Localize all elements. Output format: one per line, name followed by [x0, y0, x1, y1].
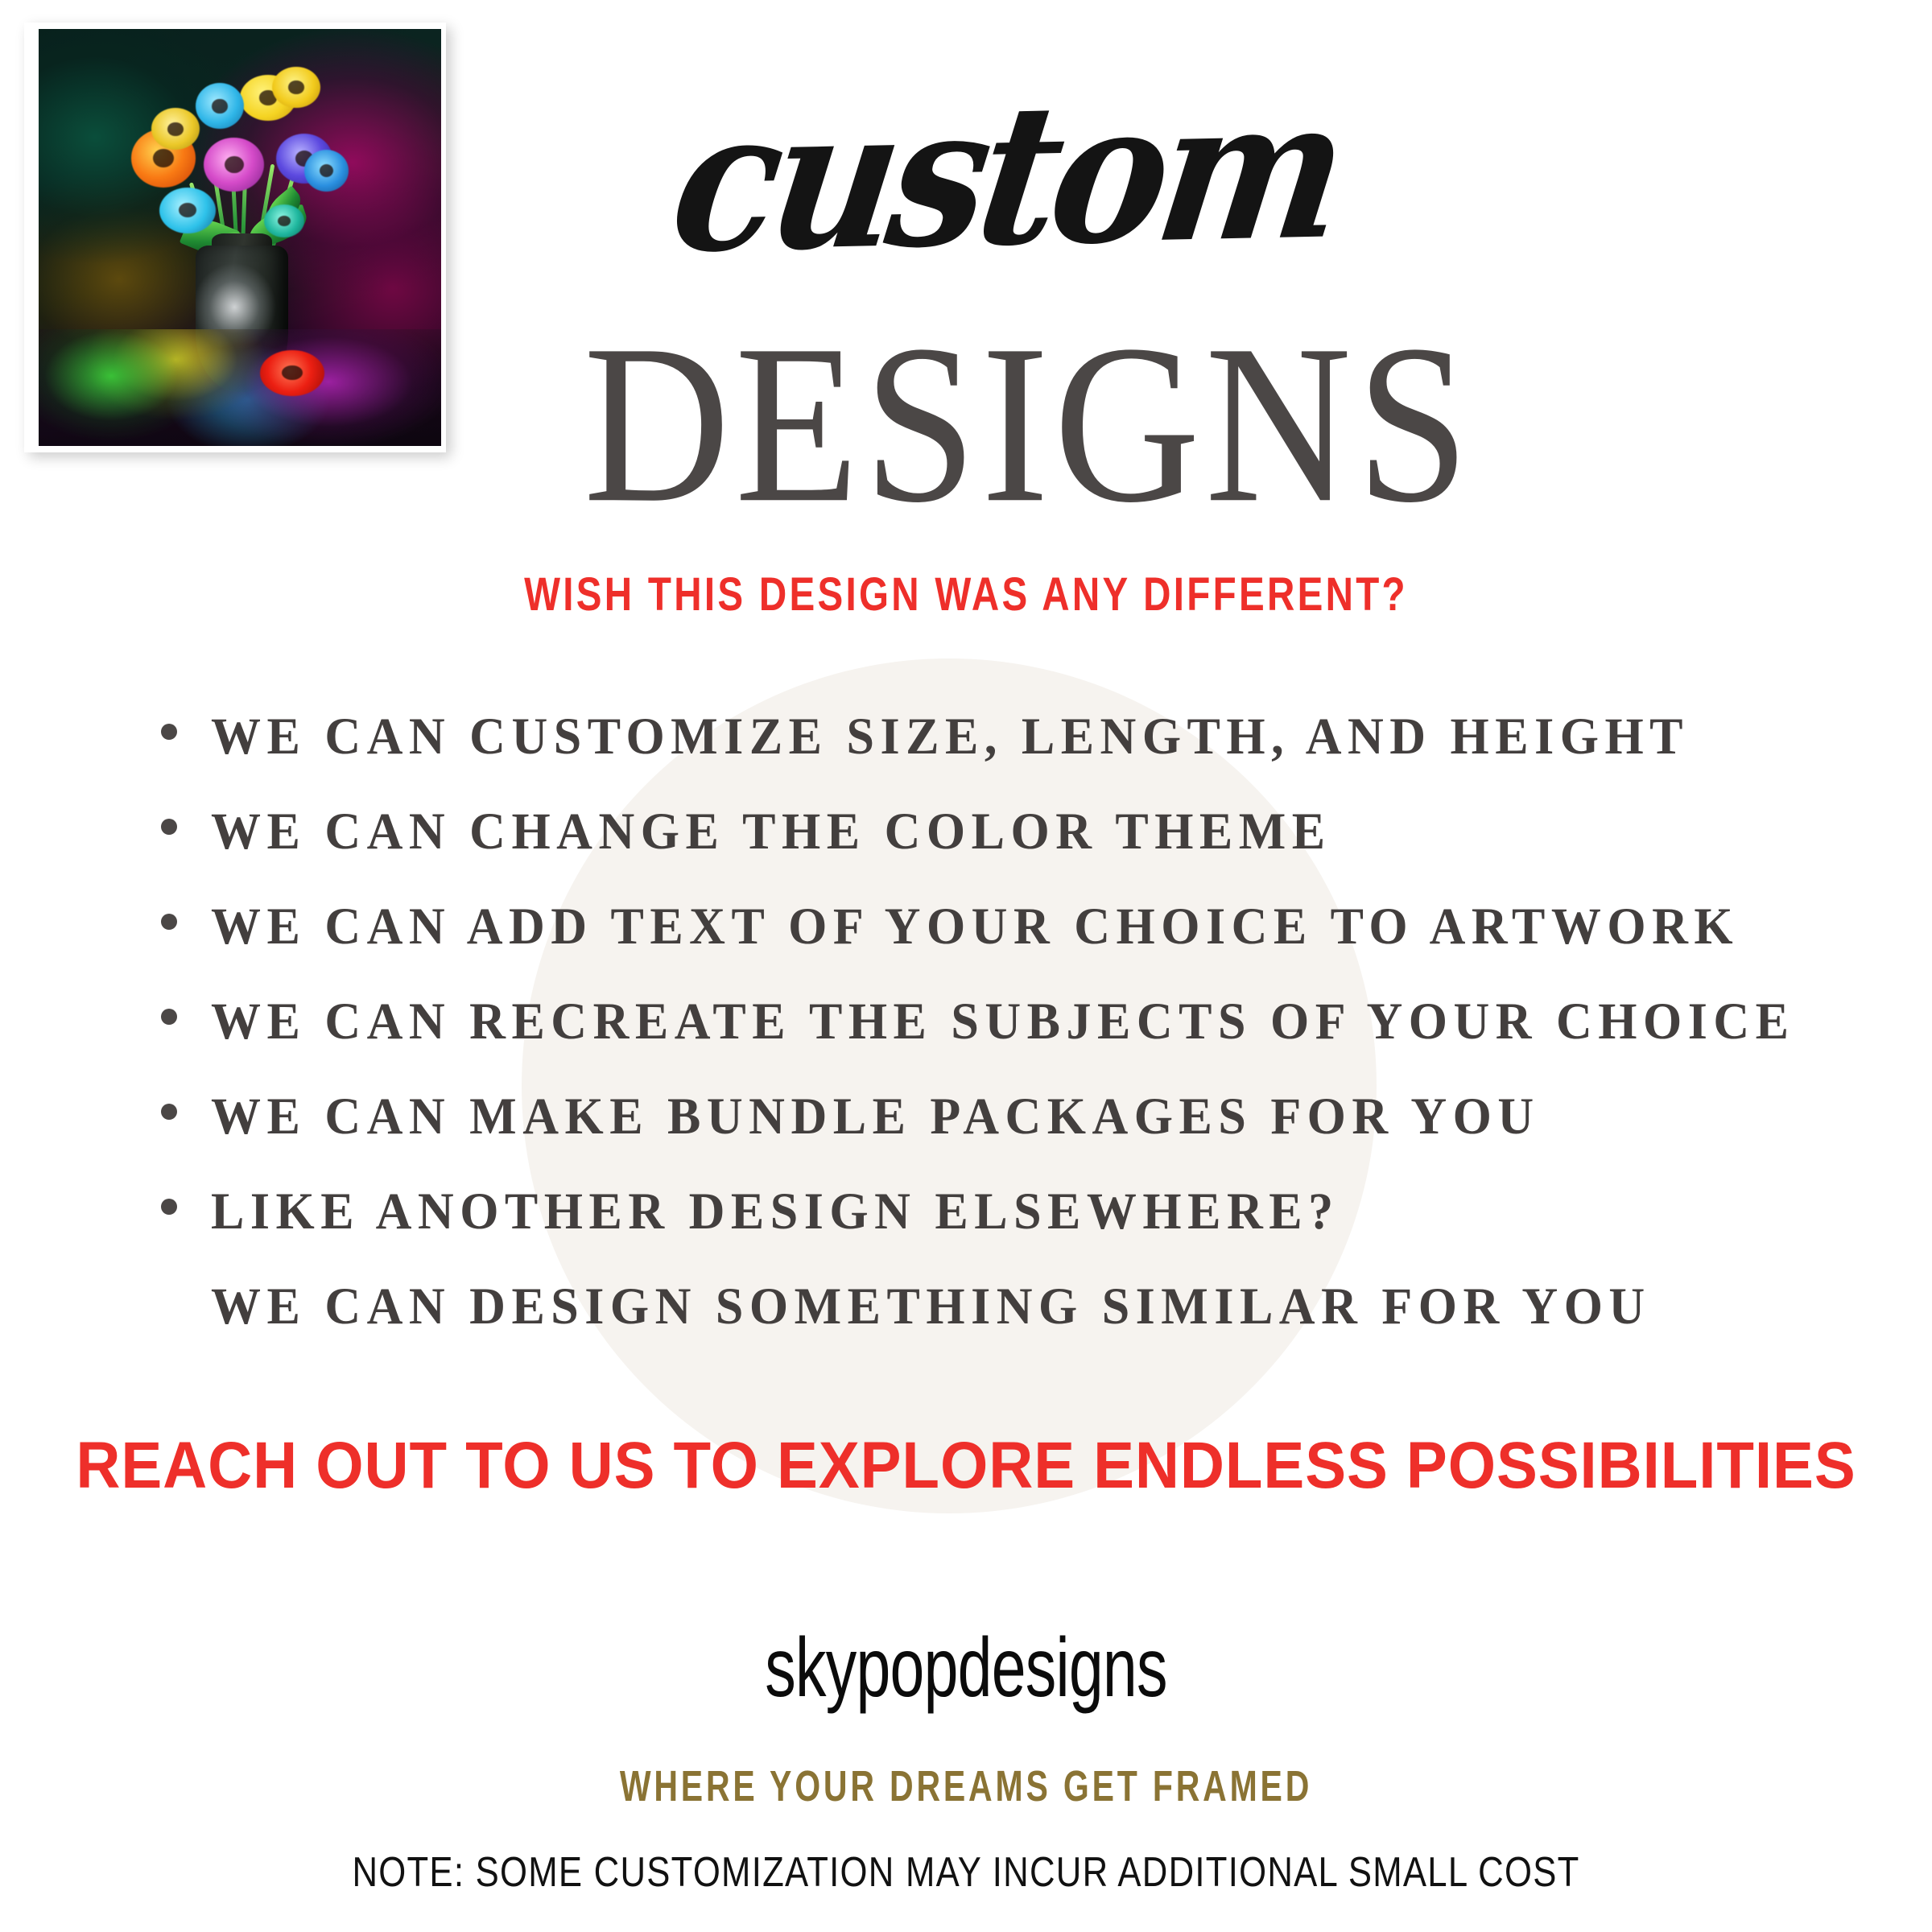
- list-item: WE CAN CHANGE THE COLOR THEME: [161, 803, 1868, 898]
- call-to-action[interactable]: REACH OUT TO US TO EXPLORE ENDLESS POSSI…: [68, 1433, 1864, 1499]
- benefit-label: WE CAN CUSTOMIZE SIZE, LENGTH, AND HEIGH…: [211, 707, 1689, 767]
- list-item: WE CAN ADD TEXT OF YOUR CHOICE TO ARTWOR…: [161, 898, 1868, 993]
- custom-word: custom: [663, 72, 1350, 279]
- bullet-icon: [161, 819, 177, 835]
- benefit-label: WE CAN CHANGE THE COLOR THEME: [211, 802, 1331, 862]
- benefit-label: LIKE ANOTHER DESIGN ELSEWHERE?: [211, 1182, 1340, 1242]
- footer-note: NOTE: SOME CUSTOMIZATION MAY INCUR ADDIT…: [155, 1851, 1777, 1893]
- benefit-continuation-text: WE CAN DESIGN SOMETHING SIMILAR FOR YOU: [211, 1277, 1651, 1337]
- custom-designs-poster: custom DESIGNS WISH THIS DESIGN WAS ANY …: [0, 0, 1932, 1932]
- bullet-icon: [161, 914, 177, 930]
- brand-tagline: WHERE YOUR DREAMS GET FRAMED: [232, 1765, 1700, 1808]
- list-item: LIKE ANOTHER DESIGN ELSEWHERE?: [161, 1183, 1868, 1278]
- custom-script-heading: custom: [0, 89, 1932, 262]
- brand-logo-text: skypopdesigns: [251, 1626, 1681, 1710]
- subtitle: WISH THIS DESIGN WAS ANY DIFFERENT?: [174, 572, 1758, 618]
- list-item: WE CAN MAKE BUNDLE PACKAGES FOR YOU: [161, 1088, 1868, 1183]
- benefit-label: WE CAN MAKE BUNDLE PACKAGES FOR YOU: [211, 1087, 1540, 1147]
- list-item: WE CAN RECREATE THE SUBJECTS OF YOUR CHO…: [161, 993, 1868, 1088]
- benefit-label: WE CAN ADD TEXT OF YOUR CHOICE TO ARTWOR…: [211, 897, 1739, 957]
- bullet-icon: [161, 1009, 177, 1025]
- bullet-icon: [161, 1104, 177, 1120]
- benefits-list: WE CAN CUSTOMIZE SIZE, LENGTH, AND HEIGH…: [161, 708, 1868, 1278]
- bullet-icon: [161, 724, 177, 740]
- list-item: WE CAN CUSTOMIZE SIZE, LENGTH, AND HEIGH…: [161, 708, 1868, 803]
- benefit-label: WE CAN RECREATE THE SUBJECTS OF YOUR CHO…: [211, 992, 1795, 1052]
- page-title: DESIGNS: [63, 310, 1932, 537]
- bullet-icon: [161, 1199, 177, 1215]
